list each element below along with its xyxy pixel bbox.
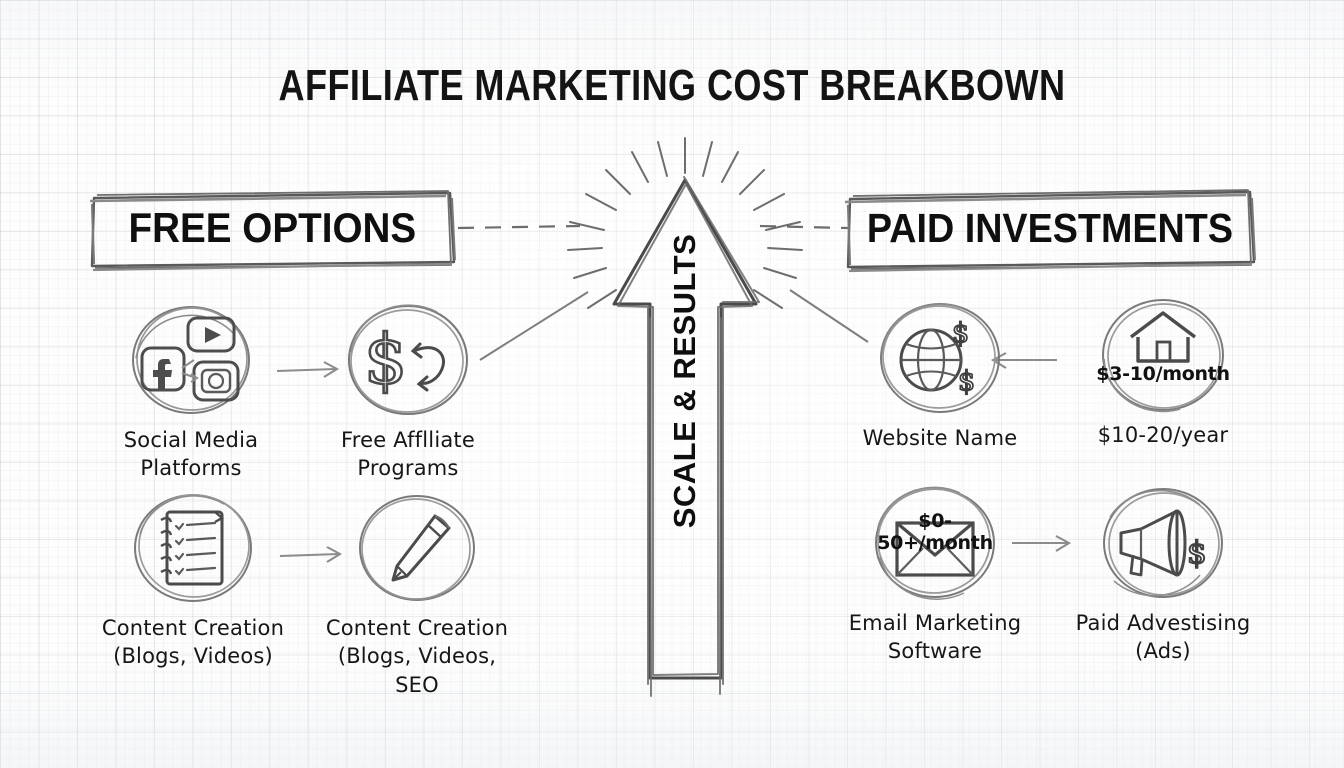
banner-paid-investments-label: PAID INVESTMENTS — [867, 205, 1233, 252]
node-label: Content Creation (Blogs, Videos, SEO — [322, 614, 512, 699]
social-media-icon — [124, 300, 258, 420]
node-content-creation-seo[interactable]: Content Creation (Blogs, Videos, SEO — [322, 488, 512, 699]
page-title: AFFILIATE MARKETING COST BREAKBOWN — [121, 61, 1223, 111]
svg-text:$: $ — [952, 318, 969, 349]
svg-text:$: $ — [958, 366, 975, 397]
node-social-media-platforms[interactable]: Social Media Platforms — [96, 300, 286, 483]
icon-circle: $3-10/month — [1096, 295, 1230, 415]
icon-circle: $ — [341, 300, 475, 420]
node-website-name[interactable]: $ $ Website Name — [845, 298, 1035, 452]
svg-text:$: $ — [1187, 535, 1207, 571]
dollar-recycle-icon: $ — [341, 300, 475, 420]
node-paid-advertising[interactable]: $ Paid Advestising (Ads) — [1068, 483, 1258, 666]
email-price-badge: $0-50+/month — [868, 510, 1002, 554]
node-content-creation-blogs-videos[interactable]: Content Creation (Blogs, Videos) — [98, 488, 288, 671]
banner-free-options: FREE OPTIONS — [92, 192, 452, 264]
scale-results-label: SCALE & RESULTS — [667, 234, 703, 529]
icon-circle: $ $ — [873, 298, 1007, 418]
hosting-price-badge: $3-10/month — [1096, 363, 1230, 385]
globe-dollar-icon: $ $ — [873, 298, 1007, 418]
node-label: $10-20/year — [1068, 421, 1258, 449]
notebook-checklist-icon — [126, 488, 260, 608]
banner-paid-investments: PAID INVESTMENTS — [848, 192, 1252, 264]
node-label: Social Media Platforms — [96, 426, 286, 483]
pen-icon — [350, 488, 484, 608]
icon-circle: $0-50+/month — [868, 483, 1002, 603]
node-label: Free Afflliate Programs — [313, 426, 503, 483]
node-label: Content Creation (Blogs, Videos) — [98, 614, 288, 671]
node-label: Paid Advestising (Ads) — [1068, 609, 1258, 666]
node-hosting-cost[interactable]: $3-10/month $10-20/year — [1068, 295, 1258, 449]
infographic-canvas: AFFILIATE MARKETING COST BREAKBOWN FREE … — [0, 0, 1344, 768]
node-free-affiliate-programs[interactable]: $ Free Afflliate Programs — [313, 300, 503, 483]
banner-free-options-label: FREE OPTIONS — [128, 204, 416, 252]
svg-text:$: $ — [364, 321, 407, 400]
node-email-marketing-software[interactable]: $0-50+/month Email Marketing Software — [840, 483, 1030, 666]
node-label: Email Marketing Software — [840, 609, 1030, 666]
center-arrow-scale-results: SCALE & RESULTS — [560, 118, 810, 708]
icon-circle — [350, 488, 484, 608]
icon-circle — [126, 488, 260, 608]
icon-circle — [124, 300, 258, 420]
megaphone-dollar-icon: $ — [1096, 483, 1230, 603]
house-icon — [1096, 295, 1230, 415]
icon-circle: $ — [1096, 483, 1230, 603]
node-label: Website Name — [845, 424, 1035, 452]
